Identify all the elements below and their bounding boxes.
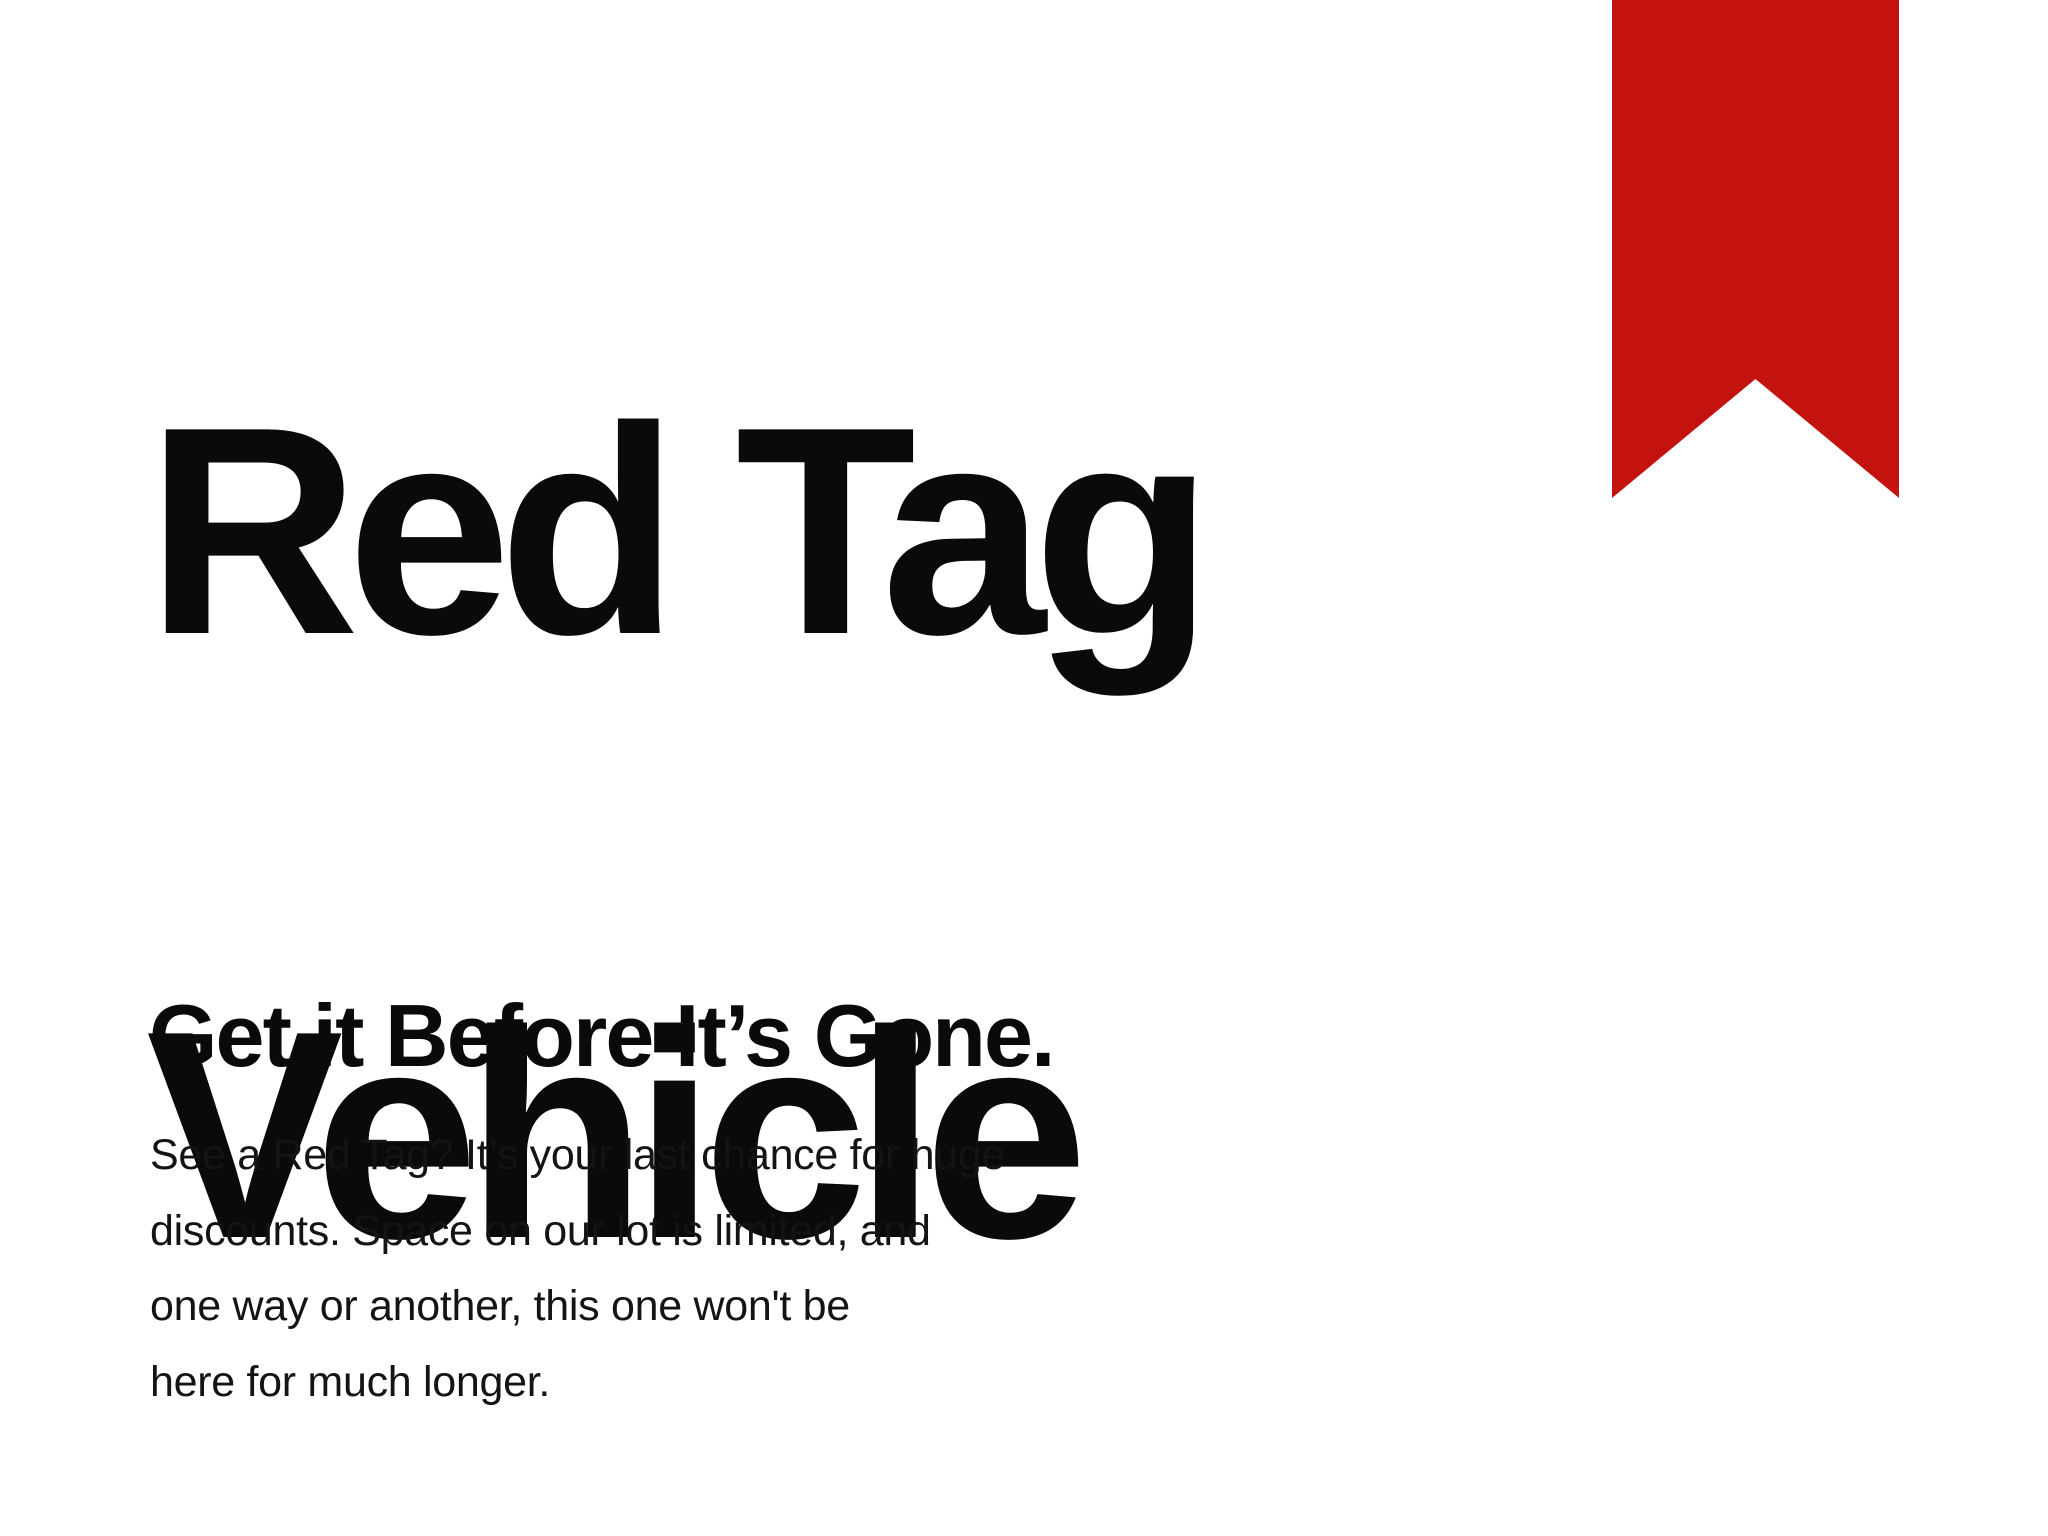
red-tag-vehicle-poster: Red Tag Vehicle Get it Before It’s Gone.…: [0, 0, 2048, 1536]
body-copy-line-3: one way or another, this one won't be: [150, 1269, 1290, 1345]
body-copy-line-4: here for much longer.: [150, 1345, 1290, 1421]
subheading: Get it Before It’s Gone.: [149, 984, 1054, 1088]
body-copy: See a Red Tag? It’s your last chance for…: [150, 1118, 1290, 1420]
body-copy-line-1: See a Red Tag? It’s your last chance for…: [150, 1118, 1290, 1194]
headline-line-1: Red Tag: [146, 380, 1326, 682]
red-ribbon-tag-icon: [1612, 0, 1899, 498]
body-copy-line-2: discounts. Space on our lot is limited, …: [150, 1194, 1290, 1270]
